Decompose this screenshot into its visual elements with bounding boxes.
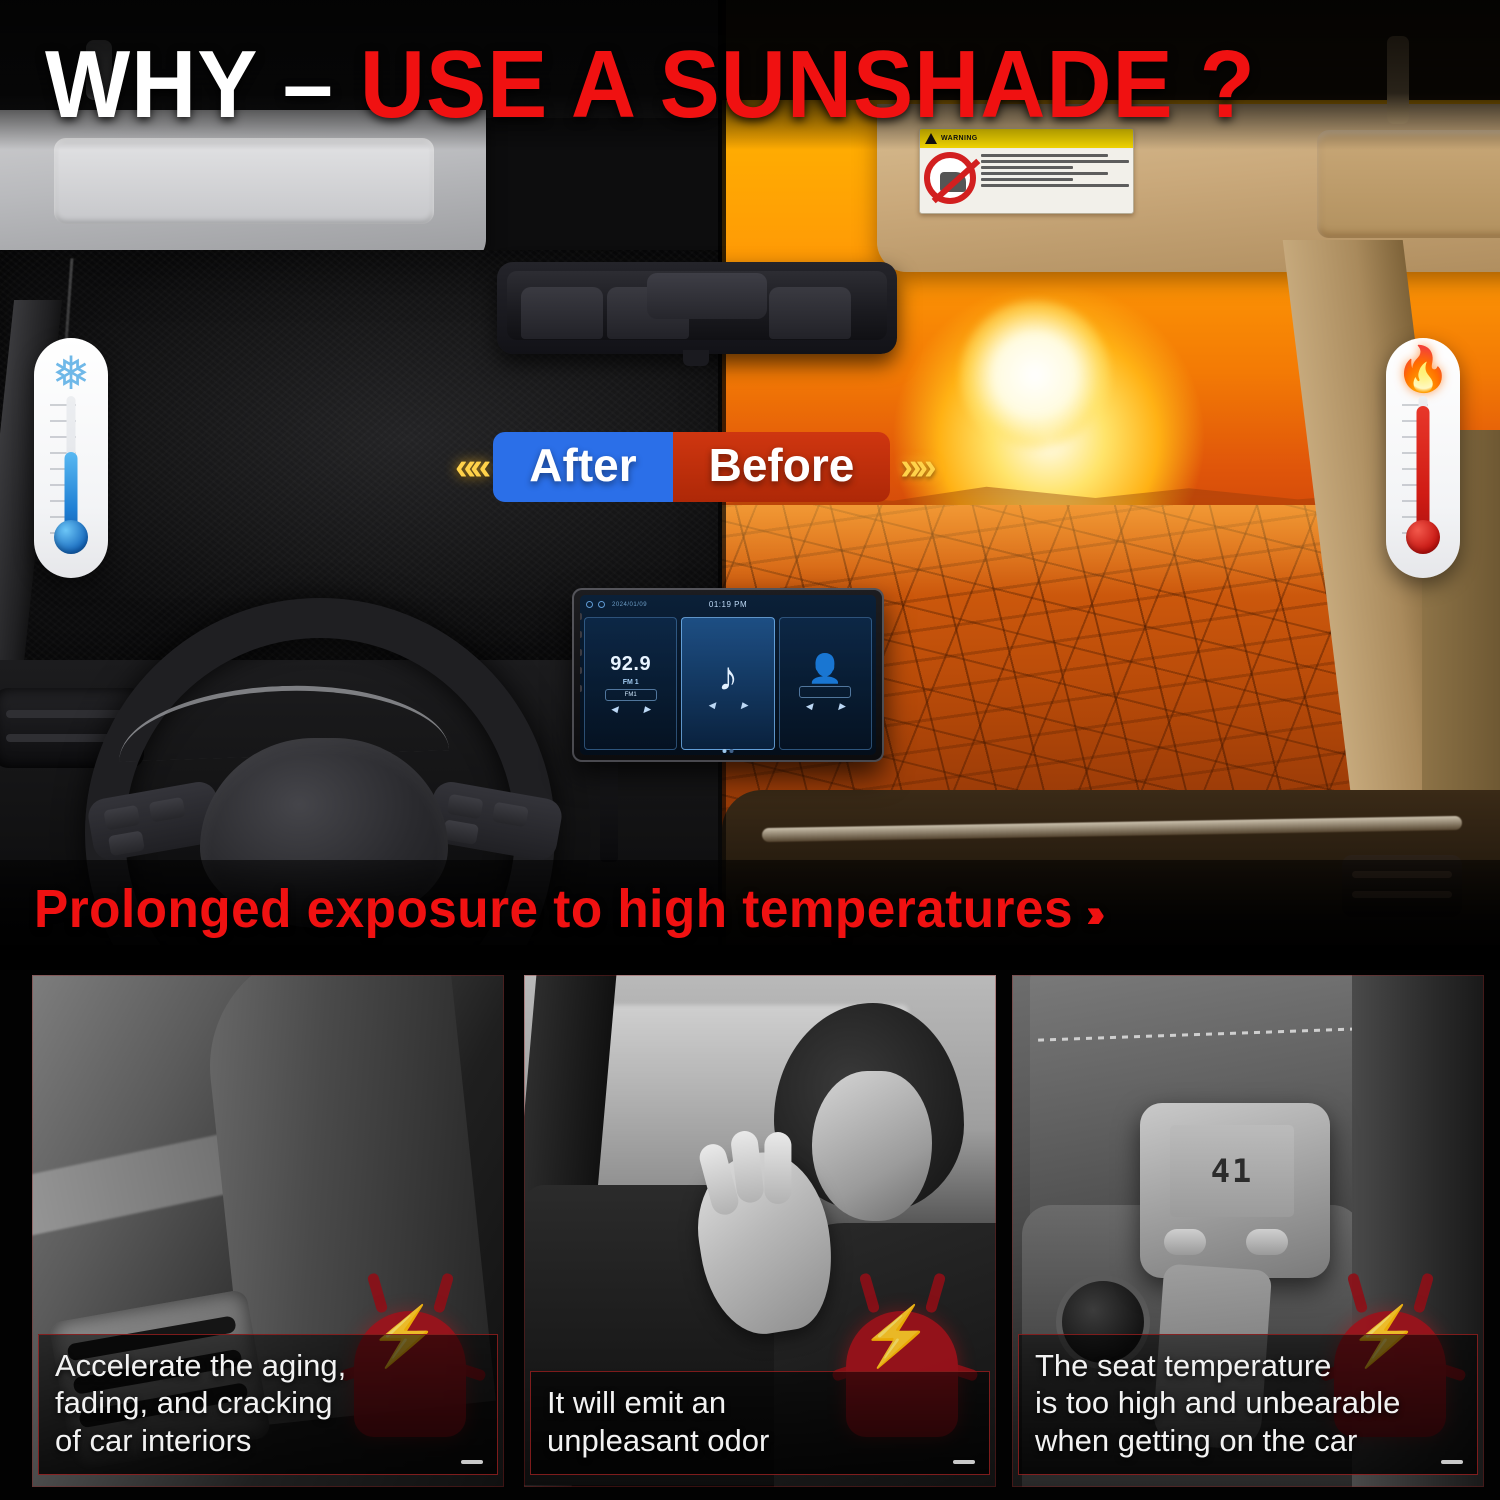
phone-tile[interactable]: 👤 ◀ ▶ (779, 617, 872, 750)
phone-next-icon: ▶ (838, 701, 845, 712)
thermometer-bulb-cold (54, 520, 88, 554)
media-tile[interactable]: ♪ ◀ ▶ (681, 617, 774, 750)
wheel-button[interactable] (492, 802, 529, 828)
media-prev-icon: ◀ (708, 700, 715, 711)
rearview-mirror (497, 262, 897, 354)
chevron-right-icon: »» (900, 446, 930, 489)
infotainment-screen[interactable]: 2024/01/09 01:19 PM 92.9 FM 1 FM1 ◀ ▶ (580, 595, 876, 755)
page-indicator[interactable] (723, 749, 734, 753)
phone-chip[interactable] (799, 686, 851, 698)
chevron-left-icon: «« (455, 446, 485, 489)
thermometer-bulb-hot (1406, 520, 1440, 554)
side-button (580, 667, 582, 674)
seek-prev-icon: ◀ (611, 704, 618, 715)
phone-prev-icon: ◀ (805, 701, 812, 712)
panel-caption-text: Accelerate the aging, fading, and cracki… (55, 1347, 481, 1460)
phone-mount-stalk (600, 752, 618, 862)
mirror-headrest (647, 273, 767, 319)
panel-aging-interior: Accelerate the aging, fading, and cracki… (32, 975, 504, 1487)
side-button (580, 649, 582, 656)
media-controls[interactable]: ◀ ▶ (708, 700, 748, 711)
ir-thermometer-reading: 41 (1211, 1152, 1254, 1190)
radio-band: FM 1 (623, 679, 639, 686)
ir-thermometer-display: 41 (1170, 1125, 1294, 1217)
before-after-badges: «« After Before »» (455, 432, 931, 502)
caption-dash (1441, 1460, 1463, 1464)
infotainment-status-bar: 2024/01/09 01:19 PM (580, 595, 876, 614)
screen-side-buttons[interactable] (580, 613, 582, 692)
gun-button[interactable] (1164, 1229, 1206, 1255)
panel-caption: It will emit an unpleasant odor (530, 1371, 990, 1475)
after-badge[interactable]: After (493, 432, 672, 502)
man-face (812, 1071, 932, 1221)
visor-vanity-mirror (54, 138, 434, 224)
radio-frequency: 92.9 (610, 653, 651, 676)
phone-controls[interactable]: ◀ ▶ (805, 701, 845, 712)
page-title-red: USE A SUNSHADE ? (360, 31, 1256, 138)
radio-tile[interactable]: 92.9 FM 1 FM1 ◀ ▶ (584, 617, 677, 750)
seek-next-icon: ▶ (644, 704, 651, 715)
caption-dash (461, 1460, 483, 1464)
flame-icon: 🔥 (1396, 348, 1451, 392)
warning-body (920, 148, 1133, 208)
wheel-button[interactable] (447, 794, 484, 820)
wheel-button[interactable] (149, 797, 186, 823)
thermometer-fill-hot (1417, 406, 1430, 534)
panel-hot-seat: 41 The seat temperature is too high and … (1012, 975, 1484, 1487)
before-badge[interactable]: Before (673, 432, 891, 502)
infotainment-clock: 01:19 PM (709, 600, 747, 609)
side-button (580, 685, 582, 692)
infotainment-tiles: 92.9 FM 1 FM1 ◀ ▶ ♪ ◀ ▶ (580, 614, 876, 755)
mirror-glass (507, 271, 887, 340)
contact-person-icon: 👤 (808, 655, 843, 683)
panel-caption: Accelerate the aging, fading, and cracki… (38, 1334, 498, 1475)
side-button (580, 613, 582, 620)
mirror-rear-seat (769, 287, 851, 339)
radio-preset-chip[interactable]: FM1 (605, 689, 657, 701)
page-title: WHY – USE A SUNSHADE ? (45, 36, 1256, 134)
music-note-icon: ♪ (718, 657, 738, 697)
consequence-panels: Accelerate the aging, fading, and cracki… (0, 970, 1500, 1500)
subhead-text: Prolonged exposure to high temperatures (34, 879, 1073, 939)
panel-caption: The seat temperature is too high and unb… (1018, 1334, 1478, 1475)
infotainment-head-unit[interactable]: 2024/01/09 01:19 PM 92.9 FM 1 FM1 ◀ ▶ (572, 588, 884, 762)
child-seat-shape (940, 172, 966, 192)
cold-thermometer: ❅ (34, 338, 108, 578)
wheel-button[interactable] (108, 830, 145, 856)
ir-thermometer-gun: 41 (1140, 1103, 1330, 1278)
page-title-white: WHY – (45, 31, 360, 138)
panel-unpleasant-odor: It will emit an unpleasant odor (524, 975, 996, 1487)
chevron-right-triple-icon: ››› (1086, 892, 1095, 936)
radio-seek-controls[interactable]: ◀ ▶ (611, 704, 651, 715)
subhead: Prolonged exposure to high temperatures›… (34, 878, 1096, 940)
mirror-mount (683, 350, 709, 366)
no-child-seat-icon (924, 152, 976, 204)
mirror-rear-seat (521, 287, 603, 339)
warning-text-lines (981, 152, 1129, 204)
infotainment-date: 2024/01/09 (612, 602, 647, 608)
wheel-button[interactable] (103, 805, 140, 831)
bluetooth-icon (586, 601, 605, 608)
panel-caption-text: It will emit an unpleasant odor (547, 1384, 973, 1460)
gun-button[interactable] (1246, 1229, 1288, 1255)
sun-icon (960, 300, 1110, 450)
caption-dash (953, 1460, 975, 1464)
side-button (580, 631, 582, 638)
media-next-icon: ▶ (741, 700, 748, 711)
panel-caption-text: The seat temperature is too high and unb… (1035, 1347, 1461, 1460)
hot-thermometer: 🔥 (1386, 338, 1460, 578)
snowflake-icon: ❅ (52, 350, 91, 396)
sunshade-infographic: WARNING (0, 0, 1500, 1500)
